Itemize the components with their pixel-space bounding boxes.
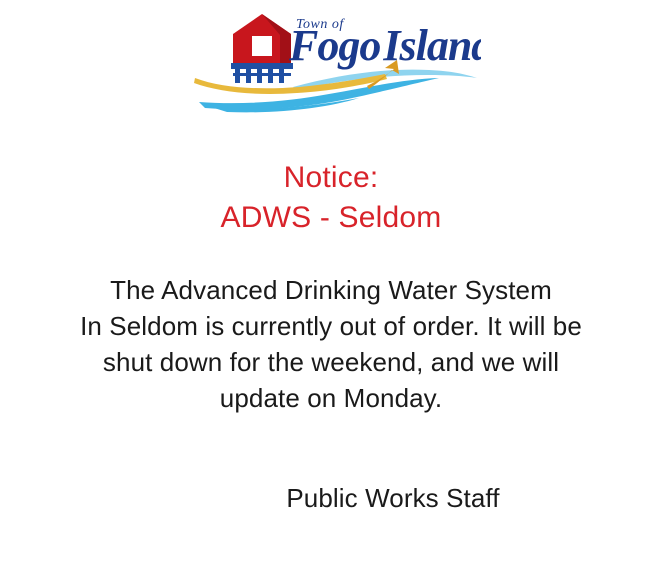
- notice-headline: Notice: ADWS - Seldom: [0, 158, 662, 238]
- body-line-1: The Advanced Drinking Water System: [0, 272, 662, 308]
- fogo-island-logo-graphic: Town of FogoIsland: [181, 8, 481, 118]
- notice-page: Town of FogoIsland Notice: ADWS - Seldom…: [0, 0, 662, 563]
- body-line-4: update on Monday.: [0, 380, 662, 416]
- notice-signature: Public Works Staff: [0, 483, 662, 514]
- logo-wordmark: FogoIsland: [288, 21, 481, 70]
- body-line-2: In Seldom is currently out of order. It …: [0, 308, 662, 344]
- headline-line-1: Notice:: [0, 158, 662, 198]
- pier-icon: [231, 63, 293, 83]
- town-logo: Town of FogoIsland: [0, 8, 662, 120]
- notice-body: The Advanced Drinking Water System In Se…: [0, 272, 662, 416]
- body-line-3: shut down for the weekend, and we will: [0, 344, 662, 380]
- signature-text: Public Works Staff: [286, 483, 499, 514]
- house-window-icon: [252, 36, 272, 56]
- headline-line-2: ADWS - Seldom: [0, 198, 662, 238]
